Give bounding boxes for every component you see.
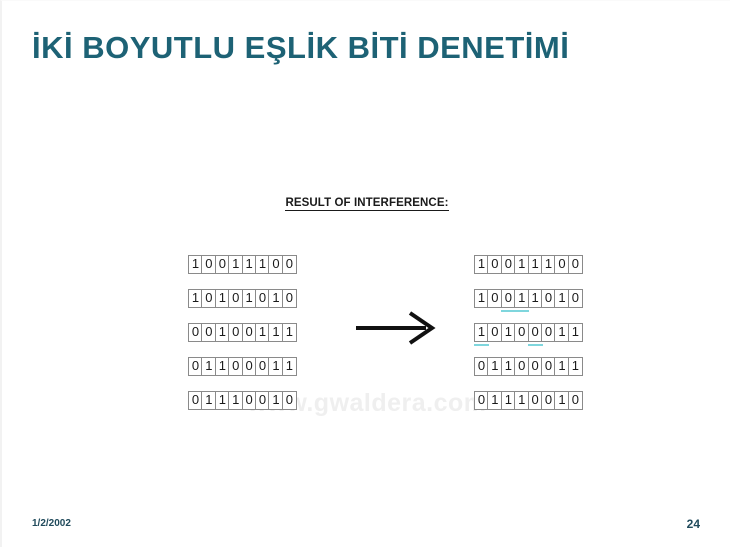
slide-canvas: İKİ BOYUTLU EŞLİK BİTİ DENETİMİ RESULT O… — [0, 0, 730, 547]
right-arrow-icon — [354, 311, 440, 345]
bit-cell: 0 — [282, 255, 297, 274]
page-title: İKİ BOYUTLU EŞLİK BİTİ DENETİMİ — [32, 30, 692, 66]
bit-cell: 1 — [568, 357, 583, 376]
footer-date: 1/2/2002 — [32, 518, 71, 529]
corrupted-bit-matrix: 1001110010011010101000110110001101110010 — [474, 255, 583, 410]
bit-row: 10011010 — [474, 289, 583, 308]
bit-cell: 1 — [568, 323, 583, 342]
bit-row: 00100111 — [188, 323, 297, 342]
watermark-text: www.gwaldera.com — [2, 389, 730, 418]
bit-cell: 0 — [568, 255, 583, 274]
bit-cell: 0 — [568, 391, 583, 410]
footer-page-number: 24 — [687, 517, 700, 531]
bit-row: 10100011 — [474, 323, 583, 342]
bit-row: 01110010 — [474, 391, 583, 410]
bit-row: 10011100 — [188, 255, 297, 274]
bit-cell: 0 — [568, 289, 583, 308]
bit-cell: 1 — [282, 323, 297, 342]
bit-row: 10101010 — [188, 289, 297, 308]
bit-row: 01100011 — [188, 357, 297, 376]
bit-row: 10011100 — [474, 255, 583, 274]
diagram-heading-text: RESULT OF INTERFERENCE: — [285, 197, 448, 211]
bit-cell: 0 — [282, 289, 297, 308]
bit-row: 01100011 — [474, 357, 583, 376]
bit-row: 01110010 — [188, 391, 297, 410]
original-bit-matrix: 1001110010101010001001110110001101110010 — [188, 255, 297, 410]
bit-cell: 0 — [282, 391, 297, 410]
bit-cell: 1 — [282, 357, 297, 376]
diagram-heading: RESULT OF INTERFERENCE: — [2, 197, 730, 209]
